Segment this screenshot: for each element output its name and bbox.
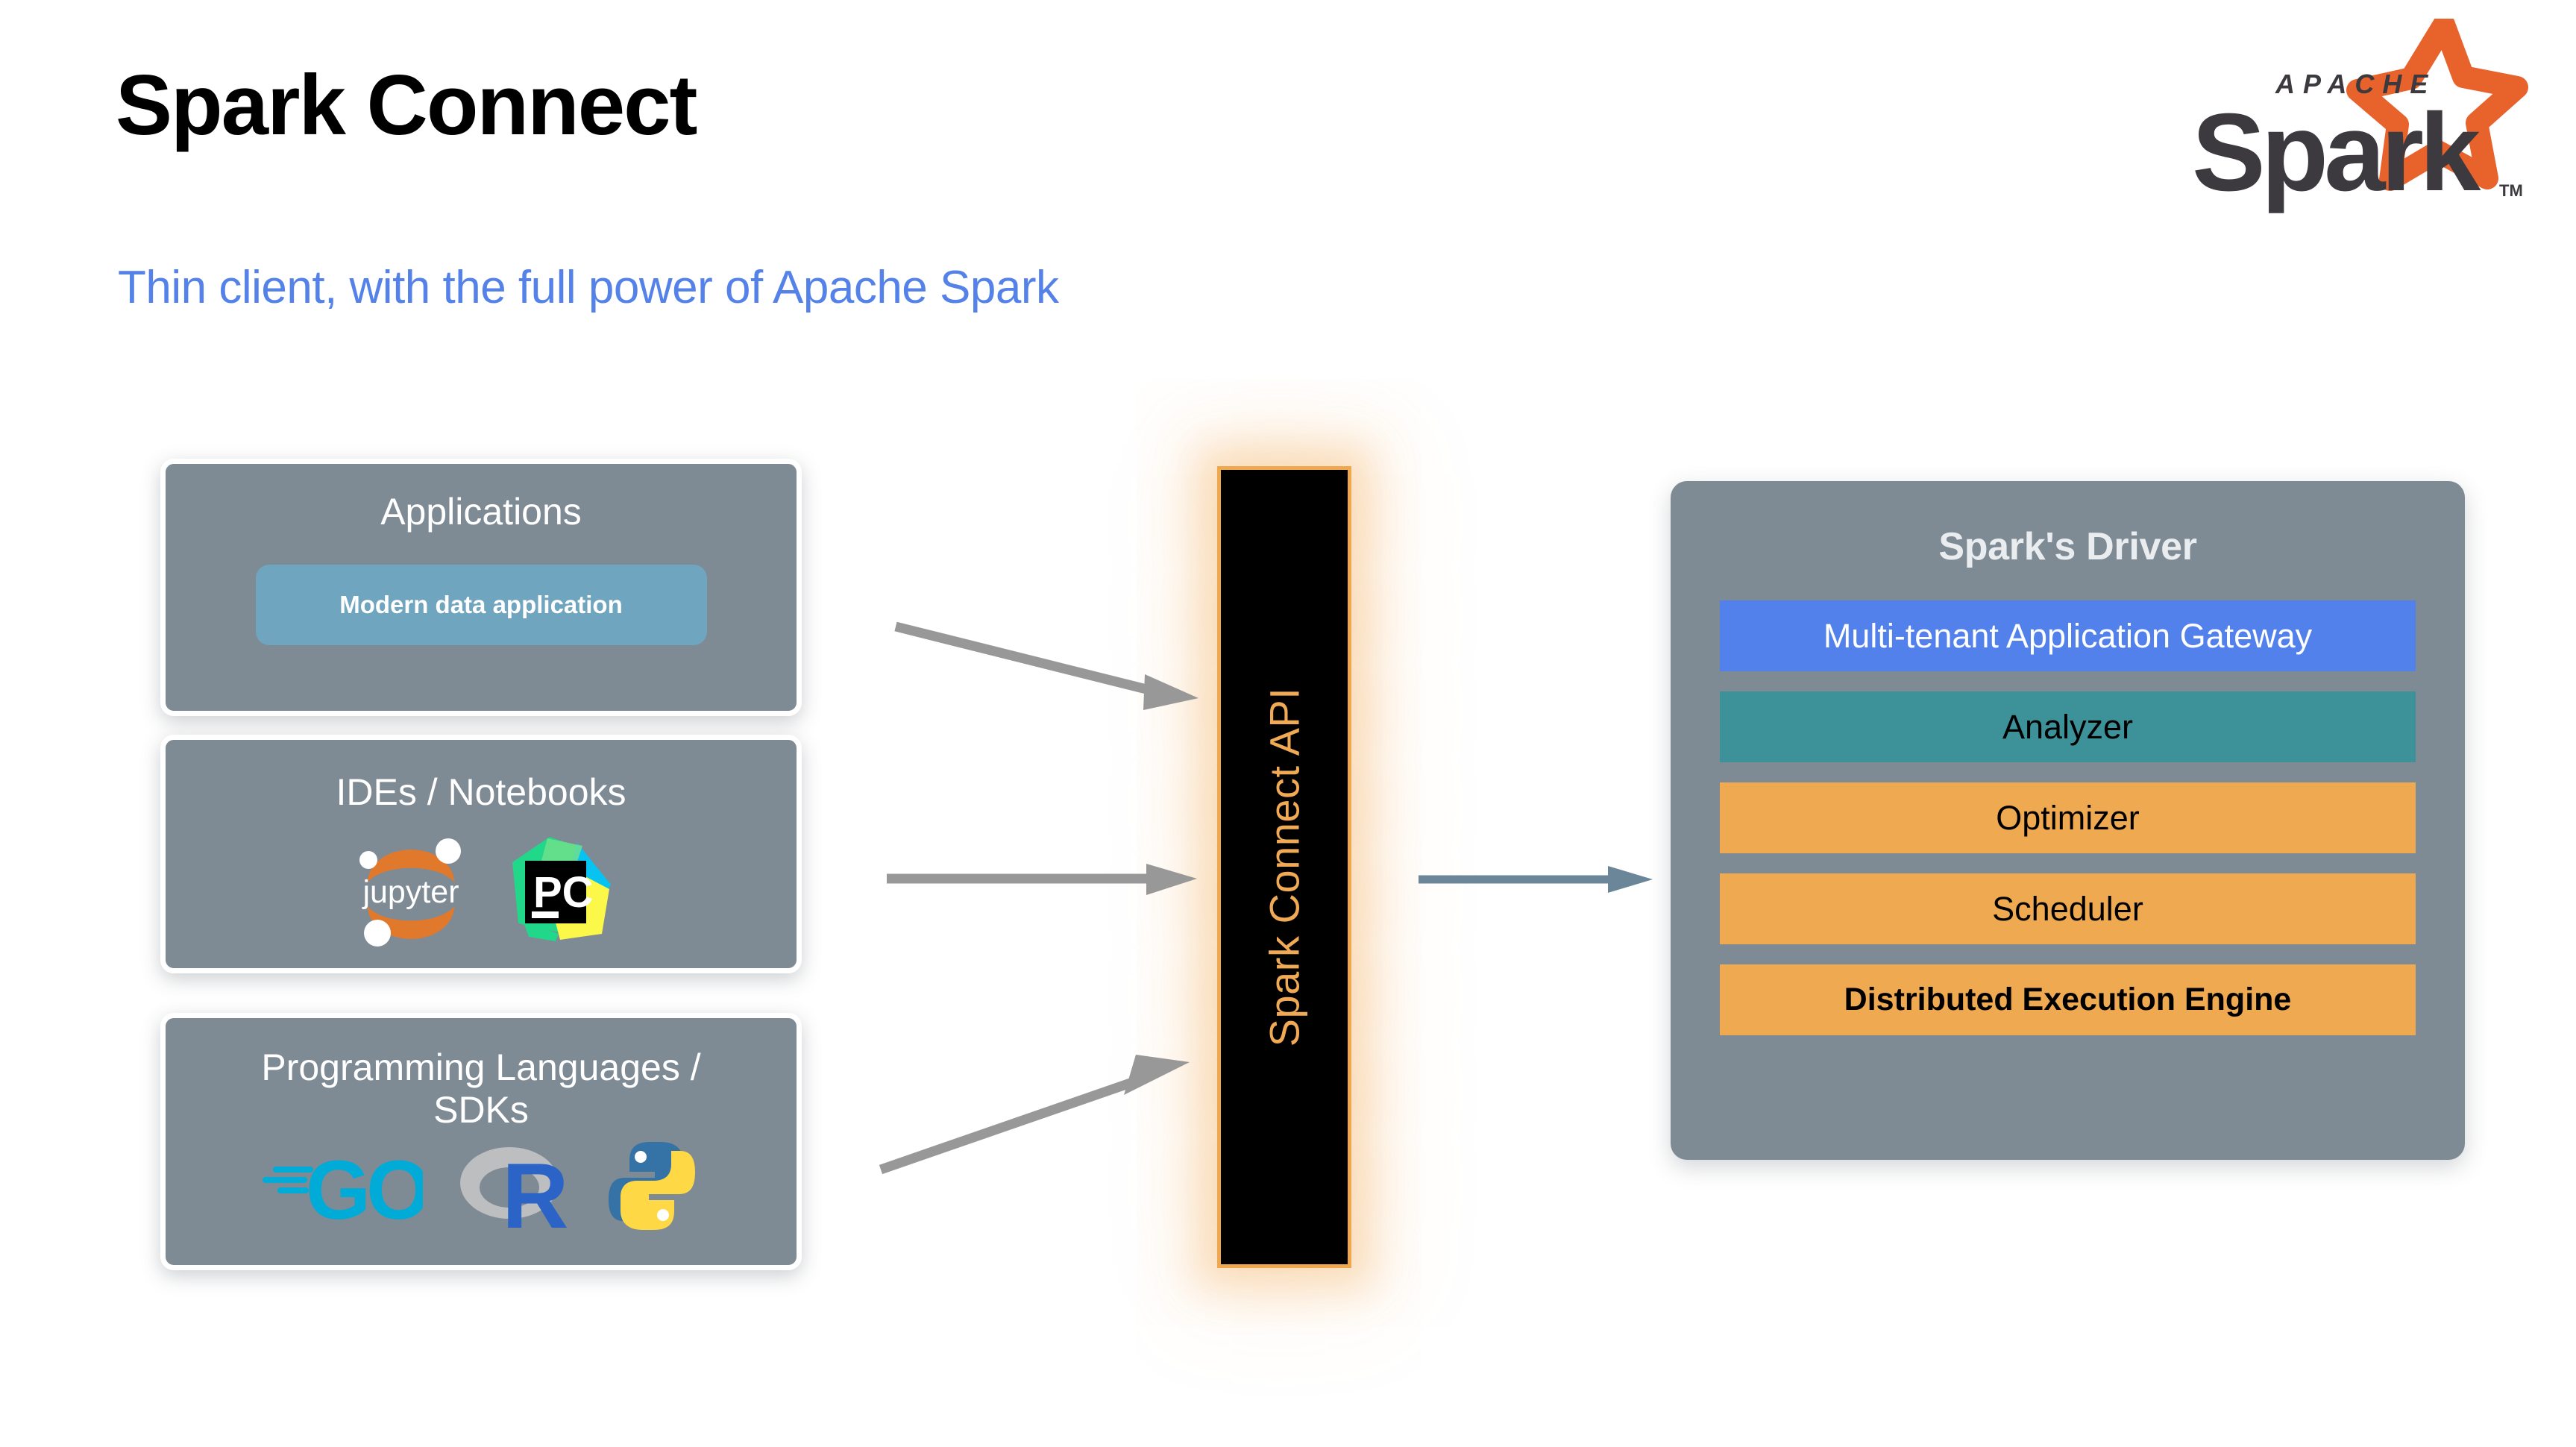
r-language-logo: R: [456, 1135, 571, 1240]
arrow-ides-to-api: [884, 858, 1204, 903]
page-subtitle: Thin client, with the full power of Apac…: [118, 265, 1058, 311]
python-logo: [604, 1137, 700, 1238]
jupyter-wordmark: jupyter: [361, 874, 459, 910]
modern-data-application-chip[interactable]: Modern data application: [256, 565, 707, 645]
driver-row-optimizer[interactable]: Optimizer: [1720, 782, 2416, 853]
pycharm-logo: PC: [506, 831, 618, 948]
card-title-ides: IDEs / Notebooks: [166, 740, 797, 814]
sdk-logo-row: GO R: [166, 1135, 797, 1240]
arrow-sdks-to-api: [876, 1052, 1204, 1186]
jupyter-logo: jupyter: [344, 824, 478, 955]
logo-wordmark-spark: Spark: [2192, 91, 2481, 214]
spark-connect-api-bar[interactable]: Spark Connect API: [1217, 466, 1351, 1268]
r-language-letter: R: [502, 1145, 569, 1236]
logo-trademark: TM: [2499, 181, 2523, 200]
page-title: Spark Connect: [116, 63, 697, 148]
arrow-api-to-driver: [1417, 861, 1656, 899]
spark-driver-title: Spark's Driver: [1720, 481, 2416, 600]
golang-go-label: GO: [306, 1143, 423, 1231]
driver-row-gateway[interactable]: Multi-tenant Application Gateway: [1720, 600, 2416, 671]
client-card-sdks[interactable]: Programming Languages / SDKs GO R: [160, 1013, 802, 1270]
card-title-applications: Applications: [166, 464, 797, 533]
apache-spark-logo: APACHE Spark TM: [2162, 19, 2535, 220]
ide-logo-row: jupyter PC: [166, 824, 797, 955]
card-title-sdks-line1: Programming Languages /: [166, 1046, 797, 1089]
client-card-applications[interactable]: Applications Modern data application: [160, 459, 802, 716]
client-card-ides[interactable]: IDEs / Notebooks jupyter: [160, 735, 802, 973]
spark-driver-panel[interactable]: Spark's Driver Multi-tenant Application …: [1671, 481, 2465, 1160]
arrow-applications-to-api: [891, 619, 1204, 716]
pycharm-pc-label: PC: [533, 868, 594, 917]
driver-row-analyzer[interactable]: Analyzer: [1720, 691, 2416, 762]
golang-logo: GO: [263, 1141, 423, 1234]
driver-row-distributed-execution-engine[interactable]: Distributed Execution Engine: [1720, 964, 2416, 1035]
card-title-sdks: Programming Languages / SDKs: [166, 1018, 797, 1131]
card-title-sdks-line2: SDKs: [166, 1089, 797, 1131]
spark-connect-api-label: Spark Connect API: [1260, 688, 1309, 1047]
driver-row-scheduler[interactable]: Scheduler: [1720, 873, 2416, 944]
